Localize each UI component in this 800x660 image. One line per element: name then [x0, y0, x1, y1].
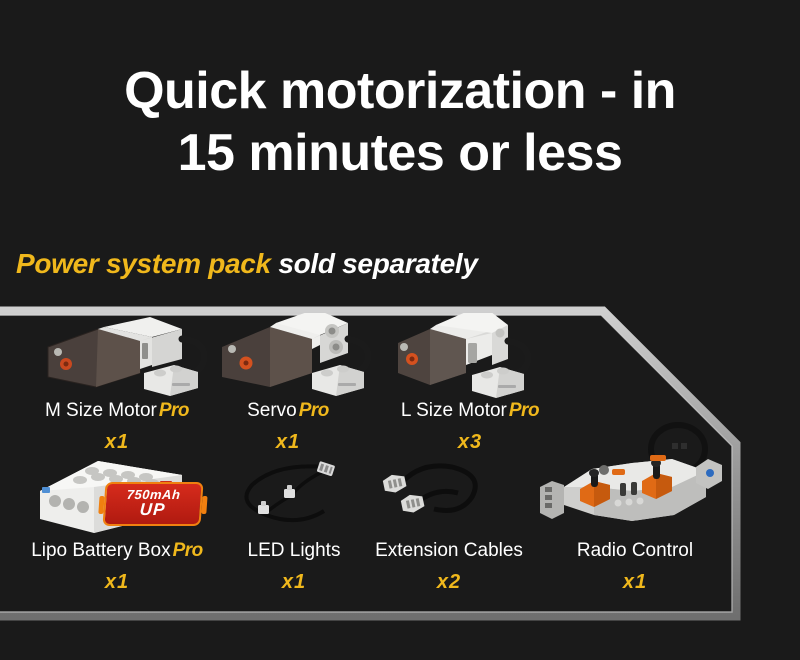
product-m-size-motor[interactable]: M Size MotorPro x1 [14, 313, 220, 452]
page-title-line-2: 15 minutes or less [0, 122, 800, 184]
subtitle-rest: sold separately [278, 248, 477, 279]
l-size-motor-icon [370, 313, 570, 399]
product-label: Lipo Battery BoxPro [8, 541, 226, 560]
capacity-badge: 750mAh UP [102, 482, 203, 526]
pro-badge: Pro [159, 400, 189, 421]
subtitle-highlight: Power system pack [16, 248, 271, 279]
page-title: Quick motorization - in 15 minutes or le… [0, 60, 800, 185]
servo-motor-icon [198, 313, 378, 399]
product-radio-control[interactable]: Radio Control x1 [540, 417, 730, 592]
product-label: Radio Control [540, 541, 730, 560]
pro-badge: Pro [299, 400, 329, 421]
capacity-suffix: UP [139, 501, 166, 520]
product-label: ServoPro [198, 401, 378, 420]
product-quantity: x1 [232, 572, 356, 592]
m-size-motor-icon [14, 313, 220, 399]
product-quantity: x1 [8, 572, 226, 592]
pro-badge: Pro [509, 400, 539, 421]
product-quantity: x2 [360, 572, 538, 592]
product-grid: M Size MotorPro x1 [0, 305, 760, 625]
product-extension-cables[interactable]: Extension Cables x2 [360, 453, 538, 592]
product-led-lights[interactable]: LED Lights x1 [232, 453, 356, 592]
product-label: LED Lights [232, 541, 356, 560]
subtitle: Power system pack sold separately [16, 248, 478, 280]
product-quantity: x1 [198, 432, 378, 452]
led-lights-icon [232, 453, 356, 539]
extension-cables-icon [360, 453, 538, 539]
product-servo[interactable]: ServoPro x1 [198, 313, 378, 452]
product-label: Extension Cables [360, 541, 538, 560]
page-title-line-1: Quick motorization - in [0, 60, 800, 122]
radio-control-icon [540, 417, 730, 539]
pro-badge: Pro [173, 540, 203, 561]
product-label: M Size MotorPro [14, 401, 220, 420]
product-quantity: x1 [14, 432, 220, 452]
product-quantity: x1 [540, 572, 730, 592]
